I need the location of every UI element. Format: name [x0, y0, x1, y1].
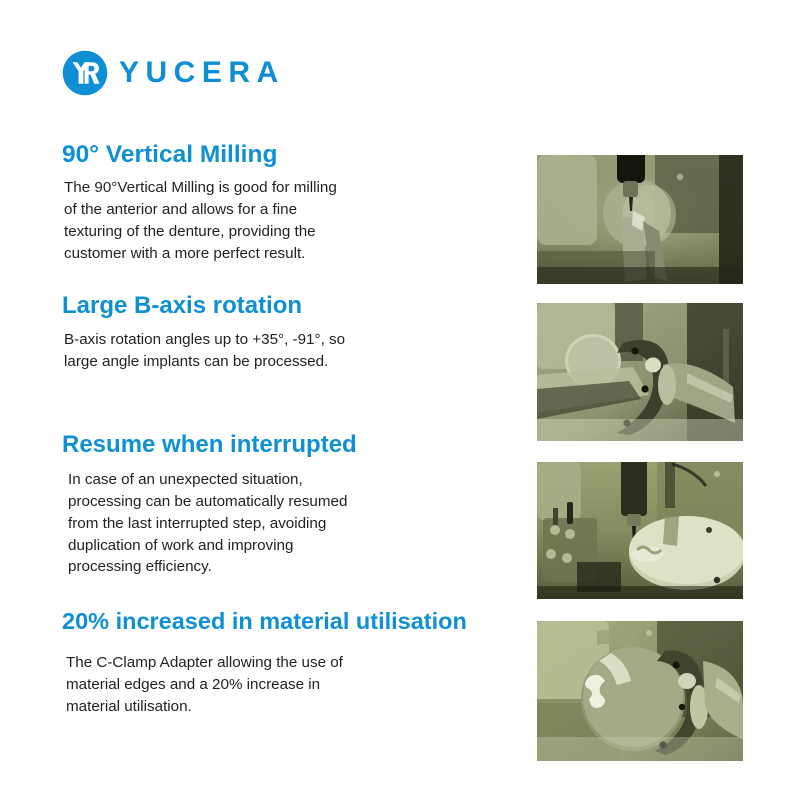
- feature-description-line: processing efficiency.: [68, 556, 492, 578]
- feature-photo-material-utilisation: [537, 621, 743, 761]
- feature-item-vertical-milling: 90° Vertical Milling The 90°Vertical Mil…: [62, 141, 492, 265]
- feature-description: The C-Clamp Adapter allowing the use of …: [66, 652, 492, 718]
- feature-description-line: material edges and a 20% increase in: [66, 674, 492, 696]
- feature-photo-column: [497, 0, 703, 800]
- feature-item-material-utilisation: 20% increased in material utilisation Th…: [62, 608, 492, 718]
- feature-description-line: of the anterior and allows for a fine: [64, 199, 492, 221]
- feature-sheet-page: YUCERA 90° Vertical Milling The 90°Verti…: [0, 0, 800, 800]
- feature-description-line: material utilisation.: [66, 696, 492, 718]
- feature-description-line: from the last interrupted step, avoiding: [68, 513, 492, 535]
- feature-description-line: customer with a more perfect result.: [64, 243, 492, 265]
- feature-title: Resume when interrupted: [62, 432, 492, 459]
- feature-description: The 90°Vertical Milling is good for mill…: [64, 177, 492, 265]
- feature-description-line: The 90°Vertical Milling is good for mill…: [64, 177, 492, 199]
- feature-title: 90° Vertical Milling: [62, 141, 492, 168]
- feature-description-line: In case of an unexpected situation,: [68, 469, 492, 491]
- feature-description: B-axis rotation angles up to +35°, -91°,…: [64, 329, 492, 373]
- feature-description-line: B-axis rotation angles up to +35°, -91°,…: [64, 329, 492, 351]
- feature-description-line: The C-Clamp Adapter allowing the use of: [66, 652, 492, 674]
- feature-description-line: large angle implants can be processed.: [64, 351, 492, 373]
- feature-item-resume-when-interrupted: Resume when interrupted In case of an un…: [62, 432, 492, 578]
- feature-description: In case of an unexpected situation, proc…: [68, 469, 492, 578]
- feature-description-line: texturing of the denture, providing the: [64, 221, 492, 243]
- feature-title: Large B-axis rotation: [62, 293, 492, 320]
- feature-description-line: duplication of work and improving: [68, 535, 492, 557]
- feature-photo-resume-when-interrupted: [537, 462, 743, 599]
- feature-photo-vertical-milling: [537, 155, 743, 284]
- feature-photo-b-axis-rotation: [537, 303, 743, 441]
- feature-list: 90° Vertical Milling The 90°Vertical Mil…: [0, 0, 497, 800]
- feature-description-line: processing can be automatically resumed: [68, 491, 492, 513]
- feature-title: 20% increased in material utilisation: [62, 608, 492, 634]
- feature-item-b-axis-rotation: Large B-axis rotation B-axis rotation an…: [62, 293, 492, 373]
